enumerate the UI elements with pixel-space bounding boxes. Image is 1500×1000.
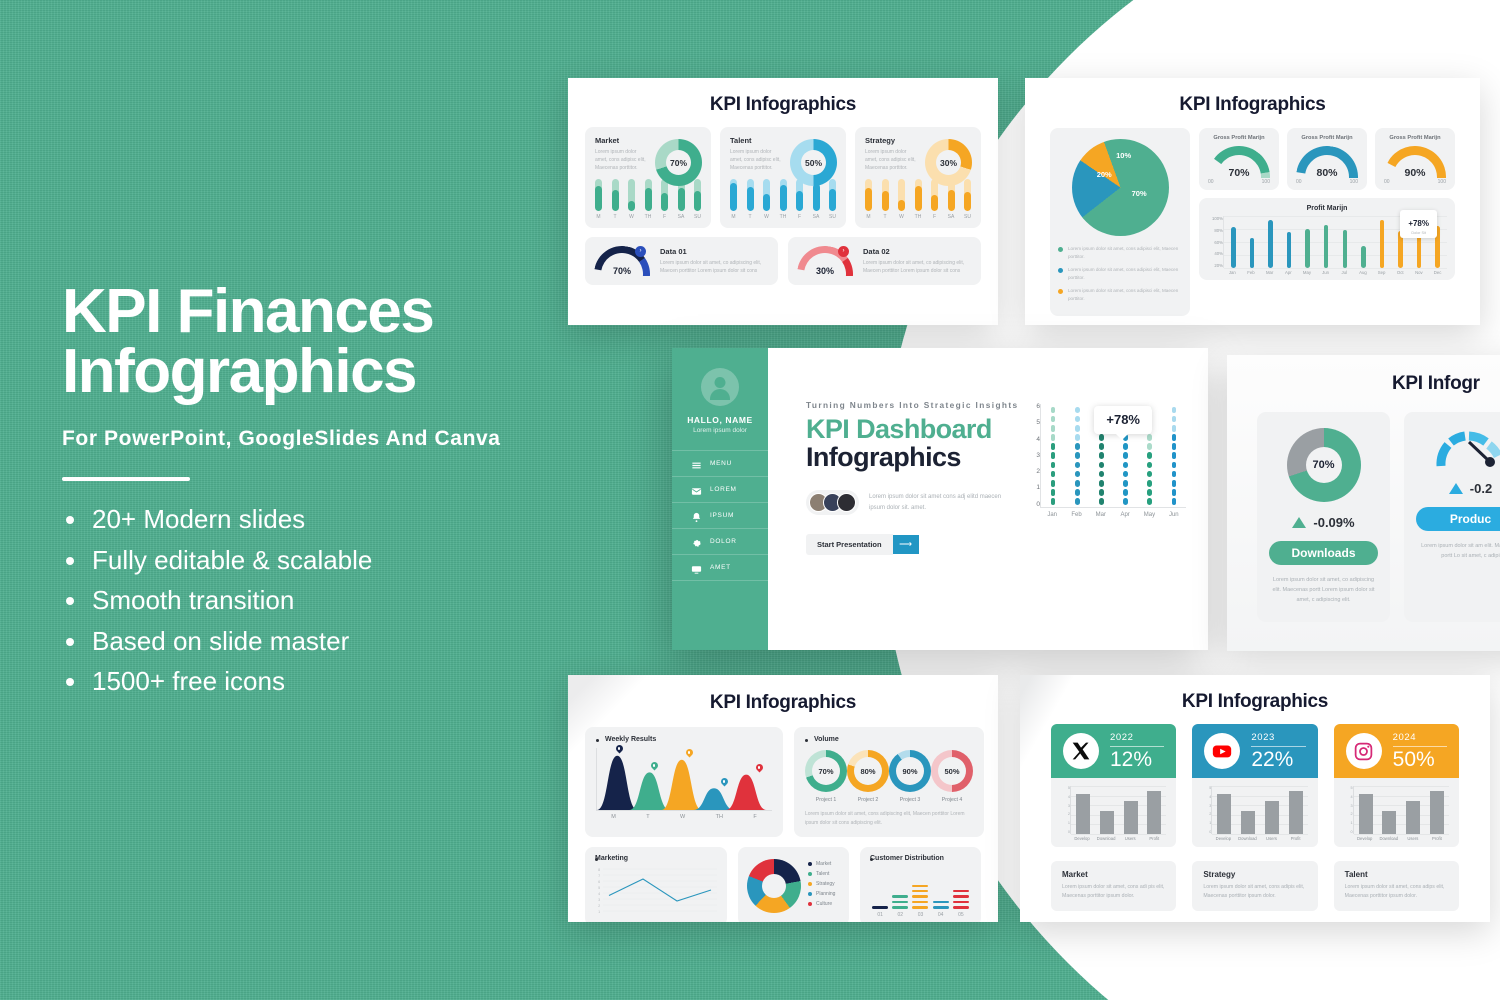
divider	[62, 477, 190, 481]
gauge-scale: 00100	[1293, 179, 1361, 185]
y-tick: 3	[1202, 804, 1211, 808]
gauge-title: Gross Profit Marijn	[1381, 135, 1449, 141]
y-tick: 4	[1061, 795, 1070, 799]
x-tick: M	[611, 814, 616, 820]
dot	[1172, 471, 1177, 478]
bar	[1406, 801, 1420, 834]
x-tick: Jul	[1339, 270, 1350, 275]
donut-chart: 90%	[889, 750, 931, 792]
bar	[1343, 230, 1348, 268]
mark-column	[933, 901, 949, 909]
y-tick: 2	[1344, 812, 1353, 816]
mark	[953, 906, 969, 908]
bar-group: MTWTHFSASU	[730, 182, 836, 220]
dot	[1172, 434, 1177, 441]
card-header-text: 202212%	[1110, 732, 1164, 770]
bar	[1382, 811, 1396, 835]
x-axis: MTWTHF	[596, 814, 772, 820]
pie-chart: 70%20%10%	[1072, 139, 1169, 236]
mark	[912, 906, 928, 908]
badge-label: Dolor Sit	[1408, 231, 1429, 235]
gridline	[1212, 786, 1307, 787]
y-tick: 5	[1202, 786, 1211, 790]
bar-label: F	[933, 214, 936, 220]
gridline	[1071, 834, 1166, 835]
gridline	[1224, 268, 1447, 269]
dot-column	[1172, 406, 1177, 505]
y-tick: 3	[1061, 804, 1070, 808]
mark	[892, 895, 908, 897]
bar-track	[898, 179, 905, 211]
bar-column: M	[865, 179, 872, 220]
dot	[1172, 407, 1177, 414]
y-tick: 0	[1202, 830, 1211, 834]
x-tick: Apr	[1283, 270, 1294, 275]
gauge-min: 00	[1208, 179, 1214, 185]
mark	[872, 906, 888, 908]
dot	[1051, 489, 1056, 496]
card-header-text: 202450%	[1393, 732, 1447, 770]
year-label: 2022	[1110, 732, 1164, 743]
data-gauge-card: ›30%Data 02Lorem ipsum dolor sit amet, c…	[788, 237, 981, 285]
x-tick: 02	[892, 912, 908, 918]
divider	[1251, 746, 1305, 747]
data-gauge-row: ›70%Data 01Lorem ipsum dolor sit amet, c…	[568, 237, 998, 285]
hero-subtitle: For PowerPoint, GoogleSlides And Canva	[62, 427, 702, 451]
bar-fill	[948, 190, 955, 211]
mark-column	[953, 890, 969, 909]
pie-slice-label: 70%	[1132, 189, 1147, 198]
y-tick: 2	[1026, 469, 1040, 476]
gridline	[1071, 786, 1166, 787]
y-tick: 5	[1026, 420, 1040, 427]
delta-indicator: -0.2	[1416, 481, 1500, 496]
donut-chart	[747, 859, 801, 913]
pie-slice-label: 20%	[1097, 170, 1112, 179]
semi-gauge: 70%	[1208, 146, 1270, 178]
volume-donuts: 70%Project 180%Project 290%Project 350%P…	[805, 750, 973, 803]
donut-value: 80%	[847, 750, 889, 792]
bar-column: T	[612, 179, 619, 220]
chart-badge: +78% Dolor Sit	[1400, 210, 1437, 238]
dot	[1147, 489, 1152, 496]
slide-thumbnail-right-middle[interactable]: KPI Infogr 70%-0.09%DownloadsLorem ipsum…	[1227, 355, 1500, 651]
bar-fill	[898, 200, 905, 211]
donut-chart: 50%	[931, 750, 973, 792]
bars	[1211, 786, 1307, 834]
x-tick: W	[680, 814, 685, 820]
bar-label: SU	[829, 214, 836, 220]
x-tick: Download	[1096, 836, 1116, 841]
gauge-value: 70%	[594, 266, 650, 276]
bar-fill	[964, 192, 971, 211]
donut-legend: MarketTalentStrategyPlanningCulture	[808, 861, 835, 911]
dot	[1123, 471, 1128, 478]
bar-fill	[678, 188, 685, 211]
bar-label: TH	[915, 214, 922, 220]
dot	[1099, 452, 1104, 459]
dot	[1075, 425, 1080, 432]
dot	[1147, 480, 1152, 487]
gauge-scale: 00100	[1205, 179, 1273, 185]
dot	[1051, 434, 1056, 441]
legend-label: Talent	[816, 871, 829, 877]
x-axis: JanFebMarAprMayJunJulAugSepOctNovDec	[1223, 270, 1447, 275]
bars	[1353, 786, 1449, 834]
dot	[1172, 498, 1177, 505]
gridline	[1354, 786, 1449, 787]
mark	[912, 890, 928, 892]
legend-item: Culture	[808, 901, 835, 907]
card-header: 202322%	[1192, 724, 1317, 778]
mark-column	[872, 906, 888, 908]
note-title: Market	[1062, 870, 1165, 879]
year-label: 2024	[1393, 732, 1447, 743]
bar-label: SA	[948, 214, 955, 220]
slide-main-content: Turning Numbers Into Strategic Insights …	[768, 348, 1208, 650]
x-axis: DevelopDownloadUsersProfit	[1211, 836, 1307, 841]
start-presentation-button[interactable]: Start Presentation ⟶	[806, 534, 919, 555]
bar-fill	[612, 190, 619, 211]
x-tick: Develop	[1213, 836, 1233, 841]
legend-swatch	[808, 882, 812, 886]
kpi-card-lorem: Lorem ipsum dolor amet, cons adipisc eli…	[595, 149, 650, 173]
legend-label: Culture	[816, 901, 832, 907]
bar-label: M	[596, 214, 600, 220]
bar-fill	[763, 194, 770, 211]
donut-value: 50%	[790, 139, 837, 186]
card-header: 202212%	[1051, 724, 1176, 778]
volume-item: 70%Project 1	[805, 750, 847, 803]
dot	[1051, 480, 1056, 487]
gauge-text: Data 02Lorem ipsum dolor sit amet, co ad…	[863, 247, 972, 275]
bar-fill	[645, 188, 652, 210]
year-label: 2023	[1251, 732, 1305, 743]
x-tick: Profit	[1144, 836, 1164, 841]
y-tick: 1	[1061, 821, 1070, 825]
percent-value: 22%	[1251, 749, 1305, 770]
x-tick: Dec	[1432, 270, 1443, 275]
map-pin-icon	[686, 749, 693, 758]
list-item: 1500+ free icons	[62, 661, 702, 702]
donut-chart: 70%	[655, 139, 702, 186]
volume-label: Project 2	[847, 797, 889, 803]
legend-item: Market	[808, 861, 835, 867]
card-header: 202450%	[1334, 724, 1459, 778]
x-tick: Sep	[1376, 270, 1387, 275]
bar	[1287, 232, 1292, 268]
y-tick: 1	[1344, 821, 1353, 825]
card-lorem: Lorem ipsum dolor sit am elit. Maecenas …	[1416, 541, 1500, 561]
avatar	[701, 368, 739, 406]
divider	[1110, 746, 1164, 747]
bar-track	[612, 179, 619, 211]
y-tick: 40%	[1207, 251, 1223, 256]
legend-swatch	[808, 872, 812, 876]
profit-bar-chart: Profit Marijn +78% Dolor Sit 100%80%60%4…	[1199, 198, 1455, 280]
bar-track	[763, 179, 770, 211]
x-axis: JanFebMarAprMayJun	[1040, 512, 1186, 518]
bar-track	[780, 179, 787, 211]
x-tick: T	[646, 814, 649, 820]
gauge-knob: ›	[635, 246, 646, 257]
y-tick: 0	[1344, 830, 1353, 834]
customer-distribution-card: Customer Distribution 0102030405	[860, 847, 981, 923]
map-pin-icon	[651, 762, 658, 771]
pie-chart-panel: 70%20%10% Lorem ipsum dolor sit amet, co…	[1050, 128, 1190, 316]
bar-fill	[595, 186, 602, 211]
slide-thumbnail-bottom-right[interactable]: KPI Infographics 202212%543210DevelopDow…	[1020, 675, 1490, 922]
x-tick: Users	[1403, 836, 1423, 841]
y-tick: 100%	[1207, 216, 1223, 221]
bar	[1217, 794, 1231, 834]
volume-label: Project 4	[931, 797, 973, 803]
gauge-lorem: Lorem ipsum dolor sit amet, co adipiscin…	[660, 259, 769, 275]
bar	[1268, 220, 1273, 268]
status-badge[interactable]: Downloads	[1269, 541, 1378, 565]
instagram-icon	[1346, 733, 1382, 769]
weekly-results-card: Weekly Results MTWTHF	[585, 727, 783, 837]
gauge-value: 90%	[1384, 167, 1446, 178]
gauge-row: Gross Profit Marijn70%00100Gross Profit …	[1199, 128, 1455, 190]
bar-label: T	[883, 214, 886, 220]
dot	[1147, 471, 1152, 478]
dot	[1172, 480, 1177, 487]
page-title: KPI Finances Infographics	[62, 282, 702, 401]
y-axis: 100%80%60%40%20%	[1207, 216, 1223, 268]
mark	[912, 901, 928, 903]
slide-f-title: KPI Infographics	[1020, 691, 1490, 713]
plot: 543210	[1061, 786, 1166, 834]
dot	[1099, 462, 1104, 469]
bar-track	[645, 179, 652, 211]
bar-fill	[796, 191, 803, 210]
bar-fill	[931, 195, 938, 211]
dot	[1123, 462, 1128, 469]
dot	[1075, 462, 1080, 469]
x-tick: Profit	[1427, 836, 1447, 841]
bar-label: SA	[678, 214, 685, 220]
sidebar-item-label: AMET	[710, 564, 731, 571]
y-tick: 3	[1344, 804, 1353, 808]
legend-text: Lorem ipsum dolor sit amet, cons adipisc…	[1068, 245, 1182, 260]
kpi-card: TalentLorem ipsum dolor amet, cons adipi…	[720, 127, 846, 228]
dot	[1051, 471, 1056, 478]
x-axis: 0102030405	[870, 912, 971, 918]
x-tick: Users	[1120, 836, 1140, 841]
x-tick: 04	[933, 912, 949, 918]
avatar-group	[806, 490, 859, 515]
y-tick: 2	[1061, 812, 1070, 816]
dot	[1123, 443, 1128, 450]
y-tick: 2	[1202, 812, 1211, 816]
legend-text: Lorem ipsum dolor sit amet, cons adipisc…	[1068, 266, 1182, 281]
slide-a-title: KPI Infographics	[568, 94, 998, 116]
y-axis: 543210	[1202, 786, 1211, 834]
gauge-value: 70%	[1208, 167, 1270, 178]
bar-label: TH	[780, 214, 787, 220]
x-tick: Jun	[1320, 270, 1331, 275]
avatar	[837, 493, 856, 512]
bar-label: W	[629, 214, 634, 220]
bar-fill	[780, 185, 787, 211]
delta-indicator: -0.09%	[1269, 515, 1378, 530]
sidebar-item-label: IPSUM	[710, 512, 734, 519]
x-tick: 01	[872, 912, 888, 918]
dot	[1075, 452, 1080, 459]
dot	[1123, 498, 1128, 505]
youtube-icon	[1204, 733, 1240, 769]
legend-swatch	[808, 902, 812, 906]
volume-item: 50%Project 4	[931, 750, 973, 803]
semi-gauge: ›30%	[797, 246, 853, 276]
dot	[1051, 452, 1056, 459]
dot	[1147, 434, 1152, 441]
bar	[1361, 246, 1366, 268]
note-lorem: Lorem ipsum dolor sit amet, cons adipis …	[1203, 883, 1306, 902]
x-tick: Nov	[1413, 270, 1424, 275]
mark	[933, 906, 949, 908]
bar-fill	[829, 189, 836, 211]
bar-label: M	[866, 214, 870, 220]
dot	[1075, 443, 1080, 450]
dot	[1051, 498, 1056, 505]
social-kpi-card: 202212%543210DevelopDownloadUsersProfit	[1051, 724, 1176, 847]
dot	[1051, 462, 1056, 469]
map-pin-icon	[756, 764, 763, 773]
gauge-title: Data 02	[863, 247, 972, 256]
bar-label: T	[748, 214, 751, 220]
donut-chart: 70%	[805, 750, 847, 792]
bar-fill	[865, 188, 872, 210]
dot	[1075, 407, 1080, 414]
volume-item: 80%Project 2	[847, 750, 889, 803]
legend-item: Planning	[808, 891, 835, 897]
y-tick: 5	[1061, 786, 1070, 790]
gauge-max: 100	[1438, 179, 1446, 185]
slide-thumbnail-top-right[interactable]: KPI Infographics 70%20%10% Lorem ipsum d…	[1025, 78, 1480, 325]
donut-value: 50%	[931, 750, 973, 792]
bar	[1359, 794, 1373, 834]
dot	[1099, 434, 1104, 441]
donut-value: 70%	[655, 139, 702, 186]
bar-track	[595, 179, 602, 211]
card-lorem: Lorem ipsum dolor sit amet, co adipiscin…	[1269, 575, 1378, 606]
kpi-card-lorem: Lorem ipsum dolor amet, cons adipisc eli…	[730, 149, 785, 173]
gauge-title: Gross Profit Marijn	[1205, 135, 1273, 141]
social-kpi-card: 202450%543210DevelopDownloadUsersProfit	[1334, 724, 1459, 847]
x-tick: Develop	[1355, 836, 1375, 841]
legend-item: Lorem ipsum dolor sit amet, cons adipisc…	[1058, 287, 1182, 302]
y-tick: 4	[1202, 795, 1211, 799]
x-tick: 03	[912, 912, 928, 918]
mark	[953, 890, 969, 892]
status-badge[interactable]: Produc	[1416, 507, 1500, 531]
customer-distribution-title: Customer Distribution	[870, 855, 971, 862]
svg-text:7: 7	[598, 874, 600, 878]
mark	[953, 895, 969, 897]
donut-value: 70%	[1287, 428, 1361, 502]
donut-chart: 80%	[847, 750, 889, 792]
x-tick: Mar	[1264, 270, 1275, 275]
bar	[1289, 791, 1303, 834]
line-chart: 87654321	[595, 866, 717, 916]
x-tick: Apr	[1116, 512, 1135, 518]
kpi-metric-card: -0.2ProducLorem ipsum dolor sit am elit.…	[1404, 412, 1500, 622]
sidebar-item-label: DOLOR	[710, 538, 737, 545]
note-title: Strategy	[1203, 870, 1306, 879]
mark	[912, 895, 928, 897]
slide-main-dashboard[interactable]: HALLO, NAME Lorem ipsum dolor MENULOREMI…	[672, 348, 1208, 650]
social-kpi-row: 202212%543210DevelopDownloadUsersProfit2…	[1020, 724, 1490, 847]
gauge-max: 100	[1350, 179, 1358, 185]
dot	[1075, 471, 1080, 478]
bar-track	[882, 179, 889, 211]
bar	[1231, 227, 1236, 268]
slide-thumbnail-bottom-left[interactable]: KPI Infographics Weekly Results MTWTHF V…	[568, 675, 998, 922]
stacked-marks	[870, 867, 971, 909]
triangle-up-icon	[1292, 517, 1306, 528]
svg-text:8: 8	[598, 868, 600, 872]
y-tick: 20%	[1207, 263, 1223, 268]
bar-fill	[813, 184, 820, 210]
bar-label: F	[663, 214, 666, 220]
bar-label: SU	[694, 214, 701, 220]
bar-track	[747, 179, 754, 211]
volume-item: 90%Project 3	[889, 750, 931, 803]
bar-label: F	[798, 214, 801, 220]
y-tick: 1	[1026, 485, 1040, 492]
kpi-metric-row: 70%-0.09%DownloadsLorem ipsum dolor sit …	[1227, 412, 1500, 622]
legend-swatch	[1058, 268, 1063, 273]
dot-column	[1075, 406, 1080, 505]
donut-chart: 50%	[790, 139, 837, 186]
x-axis: DevelopDownloadUsersProfit	[1353, 836, 1449, 841]
legend-swatch	[1058, 247, 1063, 252]
bar	[1430, 791, 1444, 834]
bar-track	[628, 179, 635, 211]
feature-list: 20+ Modern slidesFully editable & scalab…	[62, 499, 702, 702]
note-card: StrategyLorem ipsum dolor sit amet, cons…	[1192, 861, 1317, 911]
mark	[892, 906, 908, 908]
bar-track	[915, 179, 922, 211]
gauge-min: 00	[1384, 179, 1390, 185]
slide-d-title: KPI Infogr	[1227, 373, 1500, 395]
dot	[1051, 416, 1056, 423]
dot	[1123, 452, 1128, 459]
dot	[1099, 471, 1104, 478]
legend-label: Planning	[816, 891, 835, 897]
plot: 543210	[1344, 786, 1449, 834]
legend-item: Talent	[808, 871, 835, 877]
x-tick: Download	[1379, 836, 1399, 841]
y-tick: 60%	[1207, 240, 1223, 245]
sidebar-item-label: MENU	[710, 460, 732, 467]
bar-column: T	[882, 179, 889, 220]
legend-swatch	[1058, 289, 1063, 294]
bar-fill	[628, 201, 635, 211]
bar-track	[865, 179, 872, 211]
card-body: 543210DevelopDownloadUsersProfit	[1334, 778, 1459, 847]
x-tick: Profit	[1286, 836, 1306, 841]
dot	[1172, 425, 1177, 432]
x-tick: Aug	[1357, 270, 1368, 275]
bar-label: TH	[645, 214, 652, 220]
y-tick: 1	[1202, 821, 1211, 825]
bars	[1070, 786, 1166, 834]
delta-value: -0.09%	[1313, 515, 1354, 530]
bar	[1265, 801, 1279, 834]
